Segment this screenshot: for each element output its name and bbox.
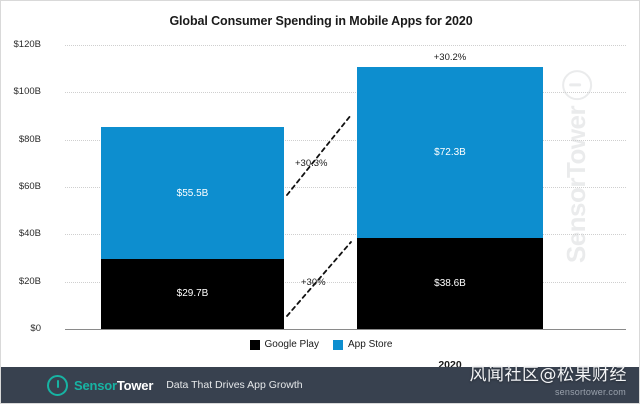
x-axis-line bbox=[65, 329, 626, 330]
growth-connector-lines bbox=[65, 45, 626, 329]
y-tick-label: $40B bbox=[0, 228, 41, 239]
connector-app-store bbox=[287, 115, 351, 195]
plot-area: $120B $100B $80B $60B $40B $20B $0 $29.7… bbox=[65, 45, 626, 329]
legend-item-app-store[interactable]: App Store bbox=[333, 339, 392, 350]
footer-bar: SensorTower Data That Drives App Growth … bbox=[1, 367, 640, 403]
footer-tagline: Data That Drives App Growth bbox=[166, 379, 302, 391]
y-tick-label: $60B bbox=[0, 181, 41, 192]
legend-swatch-icon bbox=[333, 340, 343, 350]
chart-card: Global Consumer Spending in Mobile Apps … bbox=[0, 0, 640, 404]
y-tick-label: $120B bbox=[0, 39, 41, 50]
y-tick-label: $80B bbox=[0, 134, 41, 145]
y-tick-label: $0 bbox=[0, 323, 41, 334]
legend-item-google-play[interactable]: Google Play bbox=[250, 339, 319, 350]
sensortower-logo-icon bbox=[47, 375, 68, 396]
y-tick-label: $100B bbox=[0, 86, 41, 97]
legend-label: App Store bbox=[348, 339, 392, 350]
segment-growth-annotation-google-play: +30% bbox=[301, 277, 326, 288]
page-title: Global Consumer Spending in Mobile Apps … bbox=[1, 14, 640, 28]
footer-brand: SensorTower bbox=[74, 378, 153, 393]
footer-brand-second: Tower bbox=[117, 378, 153, 393]
legend: Google Play App Store bbox=[1, 339, 640, 350]
footer-url-label: sensortower.com bbox=[555, 387, 626, 397]
y-tick-label: $20B bbox=[0, 276, 41, 287]
footer-brand-first: Sensor bbox=[74, 378, 117, 393]
legend-label: Google Play bbox=[265, 339, 319, 350]
segment-growth-annotation-app-store: +30.3% bbox=[295, 158, 328, 169]
legend-swatch-icon bbox=[250, 340, 260, 350]
